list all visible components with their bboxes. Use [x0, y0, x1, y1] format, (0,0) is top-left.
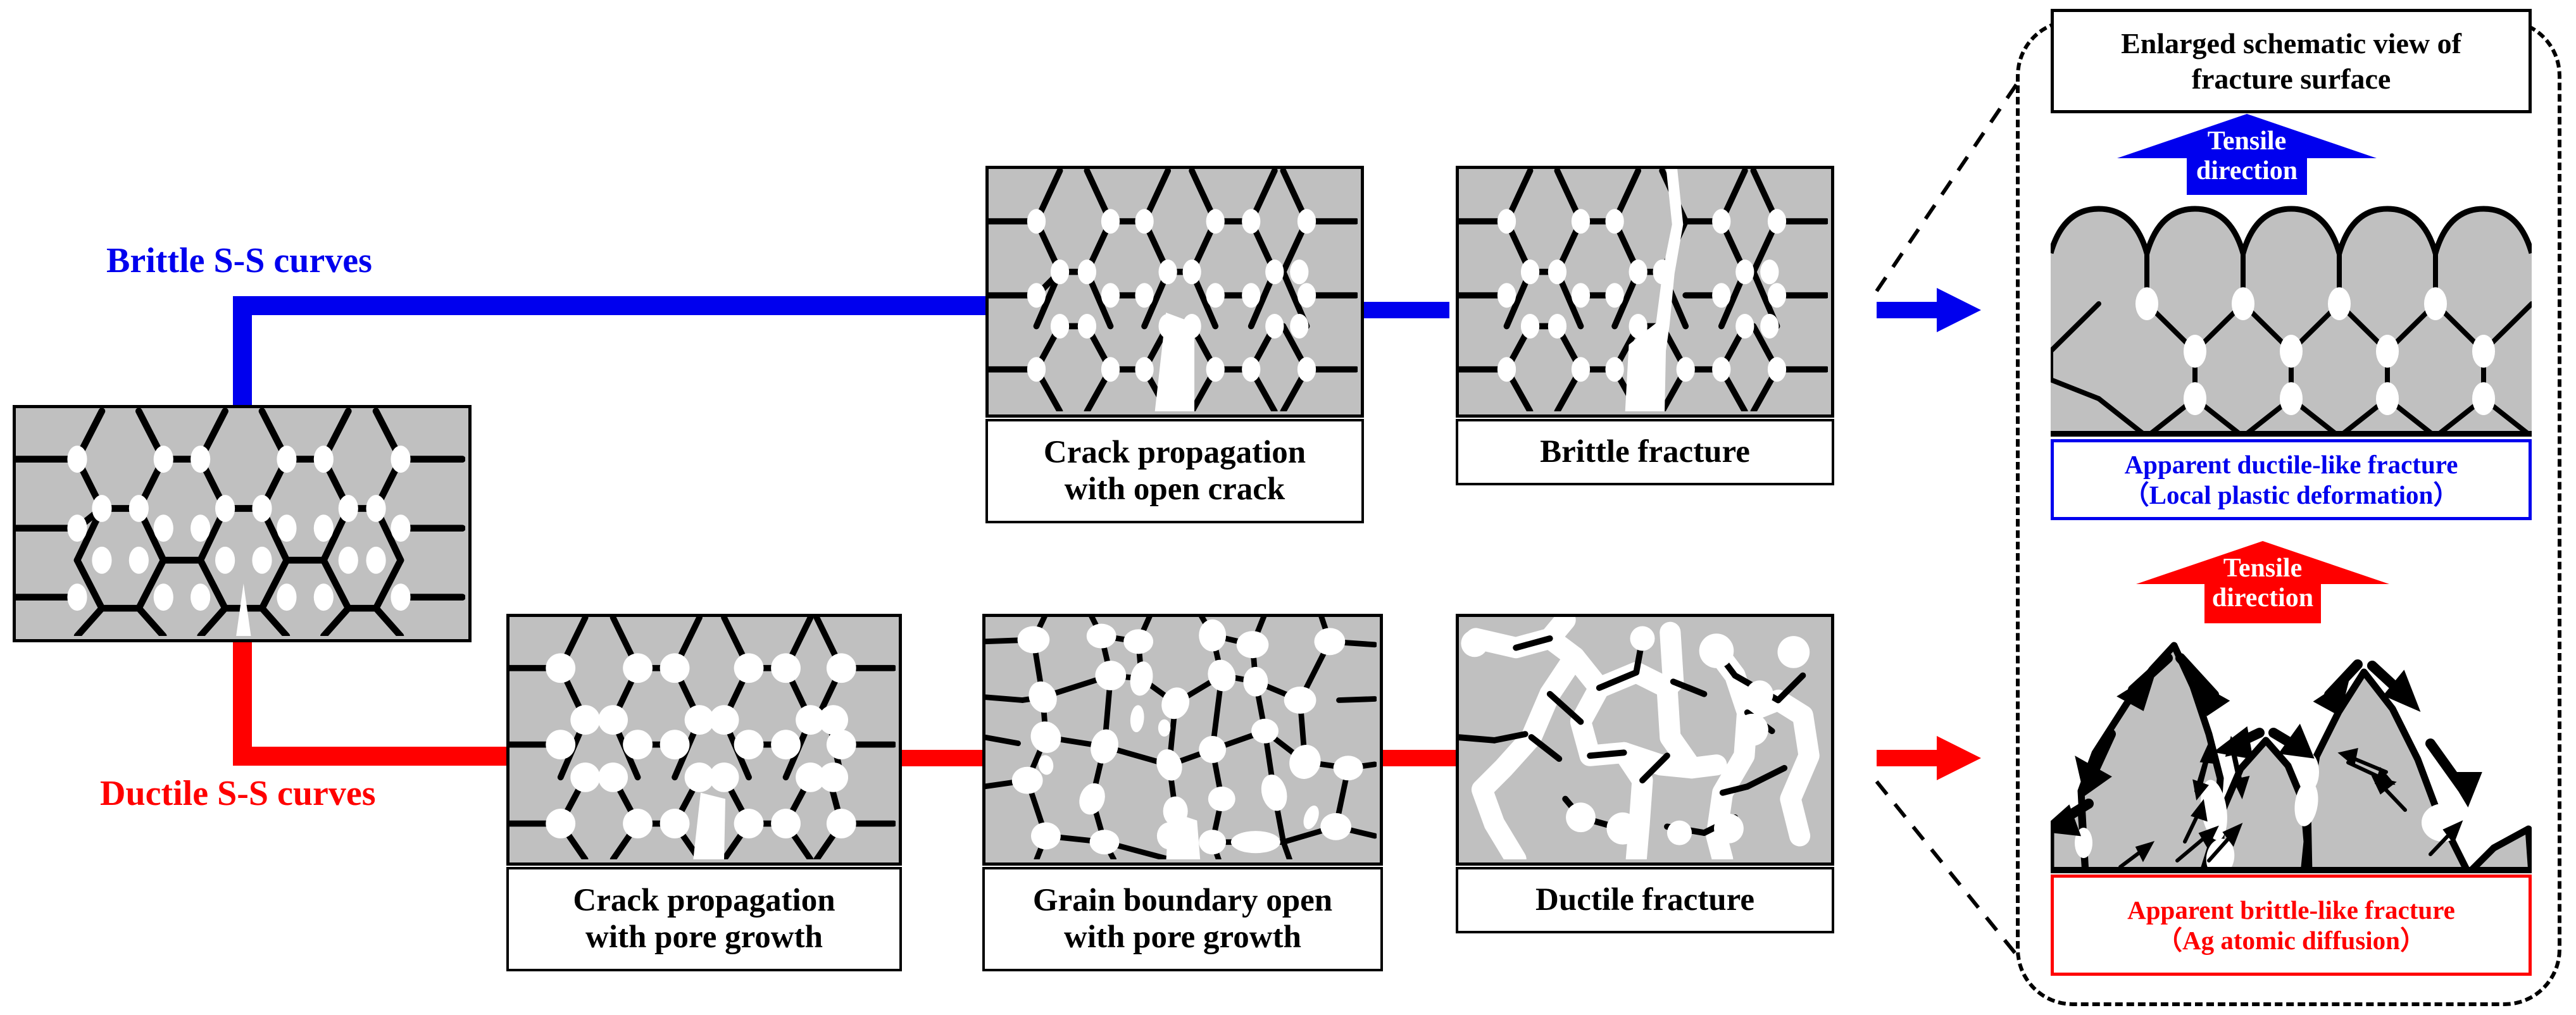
result-box-brittle-like: Apparent brittle-like fracture （Ag atomi…: [2051, 875, 2532, 976]
label-brittle-ss-curves: Brittle S-S curves: [106, 240, 372, 281]
result-line-1: Apparent brittle-like fracture: [2127, 895, 2455, 925]
result-box-ductile-like: Apparent ductile-like fracture （Local pl…: [2051, 439, 2532, 520]
tensile-direction-arrow-red: [2136, 541, 2389, 623]
enlarged-view-title-box: Enlarged schematic view of fracture surf…: [2051, 9, 2532, 113]
title-line-2: fracture surface: [2192, 61, 2391, 96]
fracture-surface-dimpled: [2051, 190, 2532, 437]
caption-ductile-fracture: Ductile fracture: [1456, 867, 1834, 933]
panel-brittle-fracture: [1456, 166, 1834, 418]
diagram-canvas: Crack propagation with open crack: [0, 0, 2576, 1015]
panel-crack-propagation-open-crack: [985, 166, 1364, 418]
caption-line-1: Crack propagation: [1044, 435, 1306, 471]
title-line-1: Enlarged schematic view of: [2121, 26, 2461, 61]
caption-crack-propagation-pore-growth: Crack propagation with pore growth: [506, 867, 902, 971]
result-line-1: Apparent ductile-like fracture: [2125, 449, 2458, 480]
fracture-surface-intergranular: [2051, 620, 2532, 873]
panel-ductile-fracture: [1456, 614, 1834, 866]
tensile-direction-arrow-blue: [2117, 114, 2377, 195]
caption-brittle-fracture: Brittle fracture: [1456, 419, 1834, 485]
caption-line-2: with pore growth: [1033, 919, 1332, 956]
caption-line-1: Grain boundary open: [1033, 883, 1332, 919]
panel-grain-boundary-open-pore-growth: [982, 614, 1383, 866]
result-line-2: （Local plastic deformation）: [2123, 480, 2460, 510]
label-ductile-ss-curves: Ductile S-S curves: [100, 773, 376, 814]
caption-crack-propagation-open-crack: Crack propagation with open crack: [985, 419, 1364, 523]
caption-line-2: with pore growth: [573, 919, 835, 956]
result-line-2: （Ag atomic diffusion）: [2156, 925, 2426, 956]
caption-line-2: with open crack: [1044, 471, 1306, 507]
caption-line-1: Brittle fracture: [1540, 434, 1750, 470]
panel-crack-propagation-pore-growth: [506, 614, 902, 866]
panel-initial-microstructure: [13, 405, 472, 642]
callout-connector-lines: [1877, 76, 2022, 962]
caption-line-1: Crack propagation: [573, 883, 835, 919]
caption-line-1: Ductile fracture: [1535, 882, 1754, 918]
caption-grain-boundary-open-pore-growth: Grain boundary open with pore growth: [982, 867, 1383, 971]
